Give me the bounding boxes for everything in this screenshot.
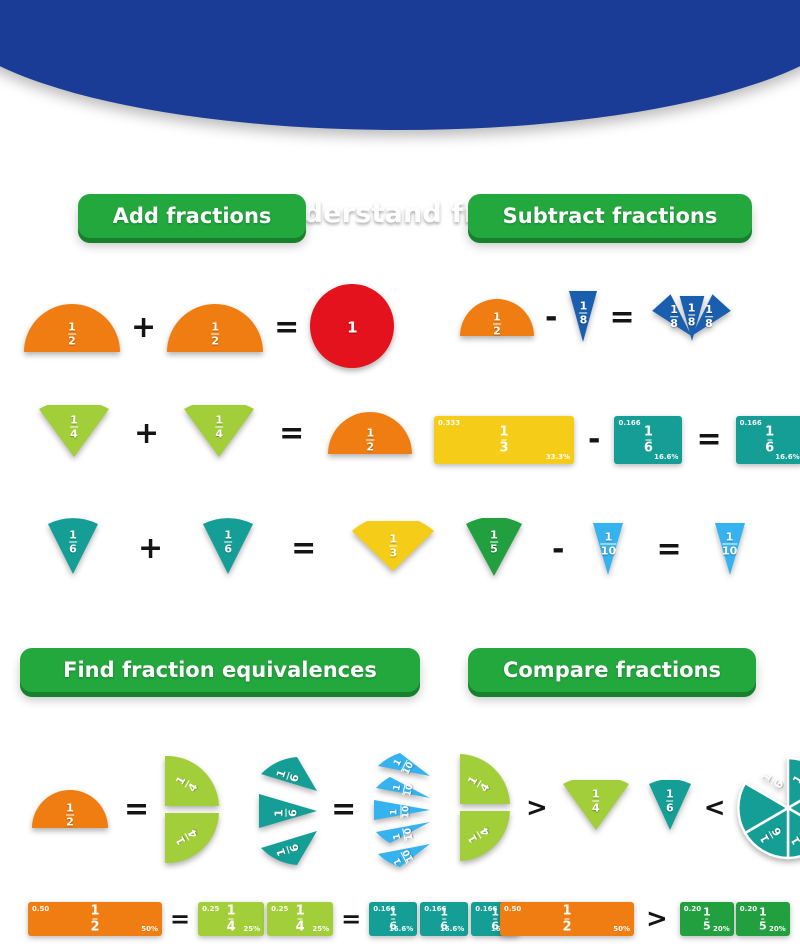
- label-one-sixth-2: 16: [224, 529, 232, 554]
- bar-decimal: 0.20: [740, 905, 757, 913]
- bar-fraction: 15: [759, 907, 767, 932]
- bar-decimal: 0.25: [271, 905, 288, 913]
- bar-group-sixths: 0.166 16 16.6% 0.166 16 16.6% 0.166 16 1…: [369, 902, 519, 936]
- bar-one-sixth-1: 0.166 16 16.6%: [369, 902, 417, 936]
- shape-five-tenths-lightblue: 110 110 110 110 110: [368, 752, 434, 868]
- label-one-sixth-compare: 16: [666, 789, 674, 814]
- bar-percent: 50%: [141, 925, 158, 933]
- bar-one-sixth-result: 0.166 16 16.6%: [736, 416, 800, 464]
- label-one-whole: 1: [347, 321, 357, 336]
- header-banner: [0, 0, 800, 130]
- bar-percent: 33.3%: [546, 453, 570, 461]
- bar-percent: 20%: [713, 925, 730, 933]
- bar-decimal: 0.25: [202, 905, 219, 913]
- shape-sixth-teal: 16: [44, 518, 102, 580]
- label-one-quarter: 14: [70, 415, 78, 440]
- label-one-half: 12: [68, 321, 76, 346]
- operator-equals: =: [265, 313, 308, 343]
- shape-tenth-lightblue: 110: [590, 519, 626, 581]
- bar-decimal: 0.166: [740, 419, 762, 427]
- operator-minus-3: -: [526, 535, 590, 565]
- label-one-quarter-2: 14: [215, 415, 223, 440]
- bar-one-sixth: 0.166 16 16.6%: [614, 416, 682, 464]
- shape-quarter-lime-7: 14: [560, 780, 632, 836]
- operator-equals-4: =: [682, 425, 735, 455]
- operator-less-than: <: [694, 795, 736, 821]
- shape-quarter-lime-3: 14: [163, 754, 223, 812]
- section-header-subtract: Subtract fractions: [468, 194, 752, 238]
- section-header-equivalence-label: Find fraction equivalences: [63, 658, 377, 682]
- bar-one-half-bottom: 0.50 12 50%: [28, 902, 162, 936]
- shape-quarter-lime-6: 14: [458, 809, 512, 867]
- operator-equals-8: =: [319, 795, 368, 825]
- shape-quarter-lime-4: 14: [163, 811, 223, 869]
- equation-subtract-bars: 0.333 13 33.3% - 0.166 16 16.6% = 0.166 …: [434, 416, 800, 464]
- label-one-sixth-b: 16: [273, 809, 298, 817]
- bar-fraction: 14: [227, 905, 236, 934]
- shape-third-yellow: 13: [350, 521, 436, 577]
- section-header-compare-label: Compare fractions: [503, 658, 721, 682]
- equation-add-halves: 12 + 12 = 1: [22, 282, 396, 374]
- equation-subtract-fifth: 15 - 110 = 110: [462, 518, 748, 582]
- label-one-third: 13: [389, 533, 397, 558]
- bar-group-quarters: 0.25 14 25% 0.25 14 25%: [198, 902, 333, 936]
- label-one-sixth: 16: [69, 529, 77, 554]
- bar-one-fifth-1: 0.20 15 20%: [680, 902, 734, 936]
- operator-greater-than-2: >: [634, 906, 680, 932]
- bar-fraction: 12: [562, 905, 571, 934]
- shape-half-orange-3: 12: [458, 294, 536, 342]
- shape-half-orange: 12: [22, 299, 122, 358]
- bar-percent: 25%: [312, 925, 329, 933]
- bar-percent: 16.6%: [440, 925, 464, 933]
- operator-equals-6: =: [626, 535, 711, 565]
- bar-one-quarter-2: 0.25 14 25%: [267, 902, 333, 936]
- section-header-subtract-label: Subtract fractions: [503, 204, 718, 228]
- bar-fraction: 15: [703, 907, 711, 932]
- shape-three-eighths-fan: 18 18 18: [644, 289, 740, 347]
- shape-sixth-teal-b: 16: [255, 793, 319, 833]
- label-one-eighth: 18: [580, 301, 588, 326]
- bar-decimal: 0.333: [438, 419, 460, 427]
- section-header-equivalence: Find fraction equivalences: [20, 648, 420, 692]
- shape-two-quarters-lime-compare: 14 14: [458, 752, 514, 864]
- shape-sixth-teal-a: 16: [255, 756, 319, 797]
- bar-fraction: 16: [765, 426, 774, 455]
- shape-tenth-e: 110: [370, 842, 432, 872]
- label-one-tenth: 110: [601, 531, 616, 556]
- operator-minus-2: -: [574, 425, 614, 455]
- equation-compare-bars: 0.50 12 50% > 0.20 15 20% 0.20 15 20%: [500, 902, 790, 936]
- label-one-half-3: 12: [493, 311, 501, 336]
- section-header-compare: Compare fractions: [468, 648, 756, 692]
- bar-fraction: 13: [499, 426, 508, 455]
- shape-sixth-teal-compare: 16: [646, 780, 694, 836]
- section-header-add: Add fractions: [78, 194, 306, 238]
- label-one-tenth-c: 110: [391, 806, 412, 819]
- bar-one-third: 0.333 13 33.3%: [434, 416, 574, 464]
- bar-fraction: 12: [90, 905, 99, 934]
- bar-one-sixth-2: 0.166 16 16.6%: [420, 902, 468, 936]
- label-one-fifth: 15: [490, 530, 498, 555]
- label-one-half-5: 12: [66, 802, 74, 827]
- operator-minus: -: [536, 303, 566, 333]
- shape-fifth-green: 15: [462, 518, 526, 582]
- shape-quarter-lime-2: 14: [181, 405, 257, 463]
- shape-sixth-teal-c: 16: [255, 830, 319, 871]
- shape-eighth-blue: 18: [566, 288, 600, 348]
- bar-percent: 25%: [243, 925, 260, 933]
- bar-one-quarter-1: 0.25 14 25%: [198, 902, 264, 936]
- shape-half-orange-4: 12: [326, 408, 414, 460]
- section-header-add-label: Add fractions: [113, 204, 272, 228]
- shape-tenth-lightblue-2: 110: [712, 519, 748, 581]
- label-one-half-4: 12: [366, 428, 374, 453]
- operator-equals-5: =: [257, 534, 350, 564]
- shape-half-orange-5: 12: [30, 786, 110, 834]
- bar-decimal: 0.50: [504, 905, 521, 913]
- equation-equivalence-bars: 0.50 12 50% = 0.25 14 25% 0.25 14 25% = …: [28, 902, 519, 936]
- operator-equals-7: =: [110, 795, 163, 825]
- operator-equals-10: =: [333, 907, 369, 931]
- bar-percent: 50%: [613, 925, 630, 933]
- equation-compare-shapes: 14 14 > 14 16 <: [458, 752, 800, 864]
- operator-plus-3: +: [102, 534, 199, 564]
- bar-percent: 20%: [769, 925, 786, 933]
- equation-subtract-eighth: 12 - 18 = 18 18 18: [458, 288, 740, 348]
- operator-equals-9: =: [162, 907, 198, 931]
- shape-two-quarters-lime: 14 14: [163, 754, 225, 866]
- bar-percent: 16.6%: [389, 925, 413, 933]
- shape-half-orange-2: 12: [165, 299, 265, 358]
- label-one-tenth-2: 110: [722, 531, 737, 556]
- bar-decimal: 0.50: [32, 905, 49, 913]
- operator-plus: +: [122, 313, 165, 343]
- bar-percent: 16.6%: [654, 453, 678, 461]
- operator-plus-2: +: [112, 419, 181, 449]
- label-one-eighth-c: 18: [705, 304, 713, 329]
- bar-one-fifth-2: 0.20 15 20%: [736, 902, 790, 936]
- bar-one-half-compare: 0.50 12 50%: [500, 902, 634, 936]
- shape-sixth-teal-2: 16: [199, 518, 257, 580]
- bar-percent: 16.6%: [775, 453, 799, 461]
- shape-three-sixths-teal: 16 16 16: [255, 754, 319, 866]
- shape-quarter-lime: 14: [36, 405, 112, 463]
- shape-five-sixths-teal-disc: 16 16 16 16 16: [736, 756, 800, 860]
- label-one-half-2: 12: [211, 321, 219, 346]
- equation-add-sixths: 16 + 16 = 13: [44, 518, 436, 580]
- bar-fraction: 14: [296, 905, 305, 934]
- bar-fraction: 16: [644, 426, 653, 455]
- operator-equals-2: =: [600, 303, 643, 333]
- bar-decimal: 0.20: [684, 905, 701, 913]
- equation-equivalence-half-quarters: 12 = 14 14 16 16: [30, 752, 434, 868]
- shape-quarter-lime-5: 14: [458, 752, 512, 810]
- equation-add-quarters: 14 + 14 = 12: [36, 405, 414, 463]
- shape-whole-circle-red: 1: [308, 282, 396, 374]
- bar-group-fifths: 0.20 15 20% 0.20 15 20%: [680, 902, 790, 936]
- operator-equals-3: =: [257, 419, 326, 449]
- operator-greater-than: >: [514, 795, 560, 821]
- bar-decimal: 0.166: [618, 419, 640, 427]
- label-one-quarter-7: 14: [592, 789, 600, 814]
